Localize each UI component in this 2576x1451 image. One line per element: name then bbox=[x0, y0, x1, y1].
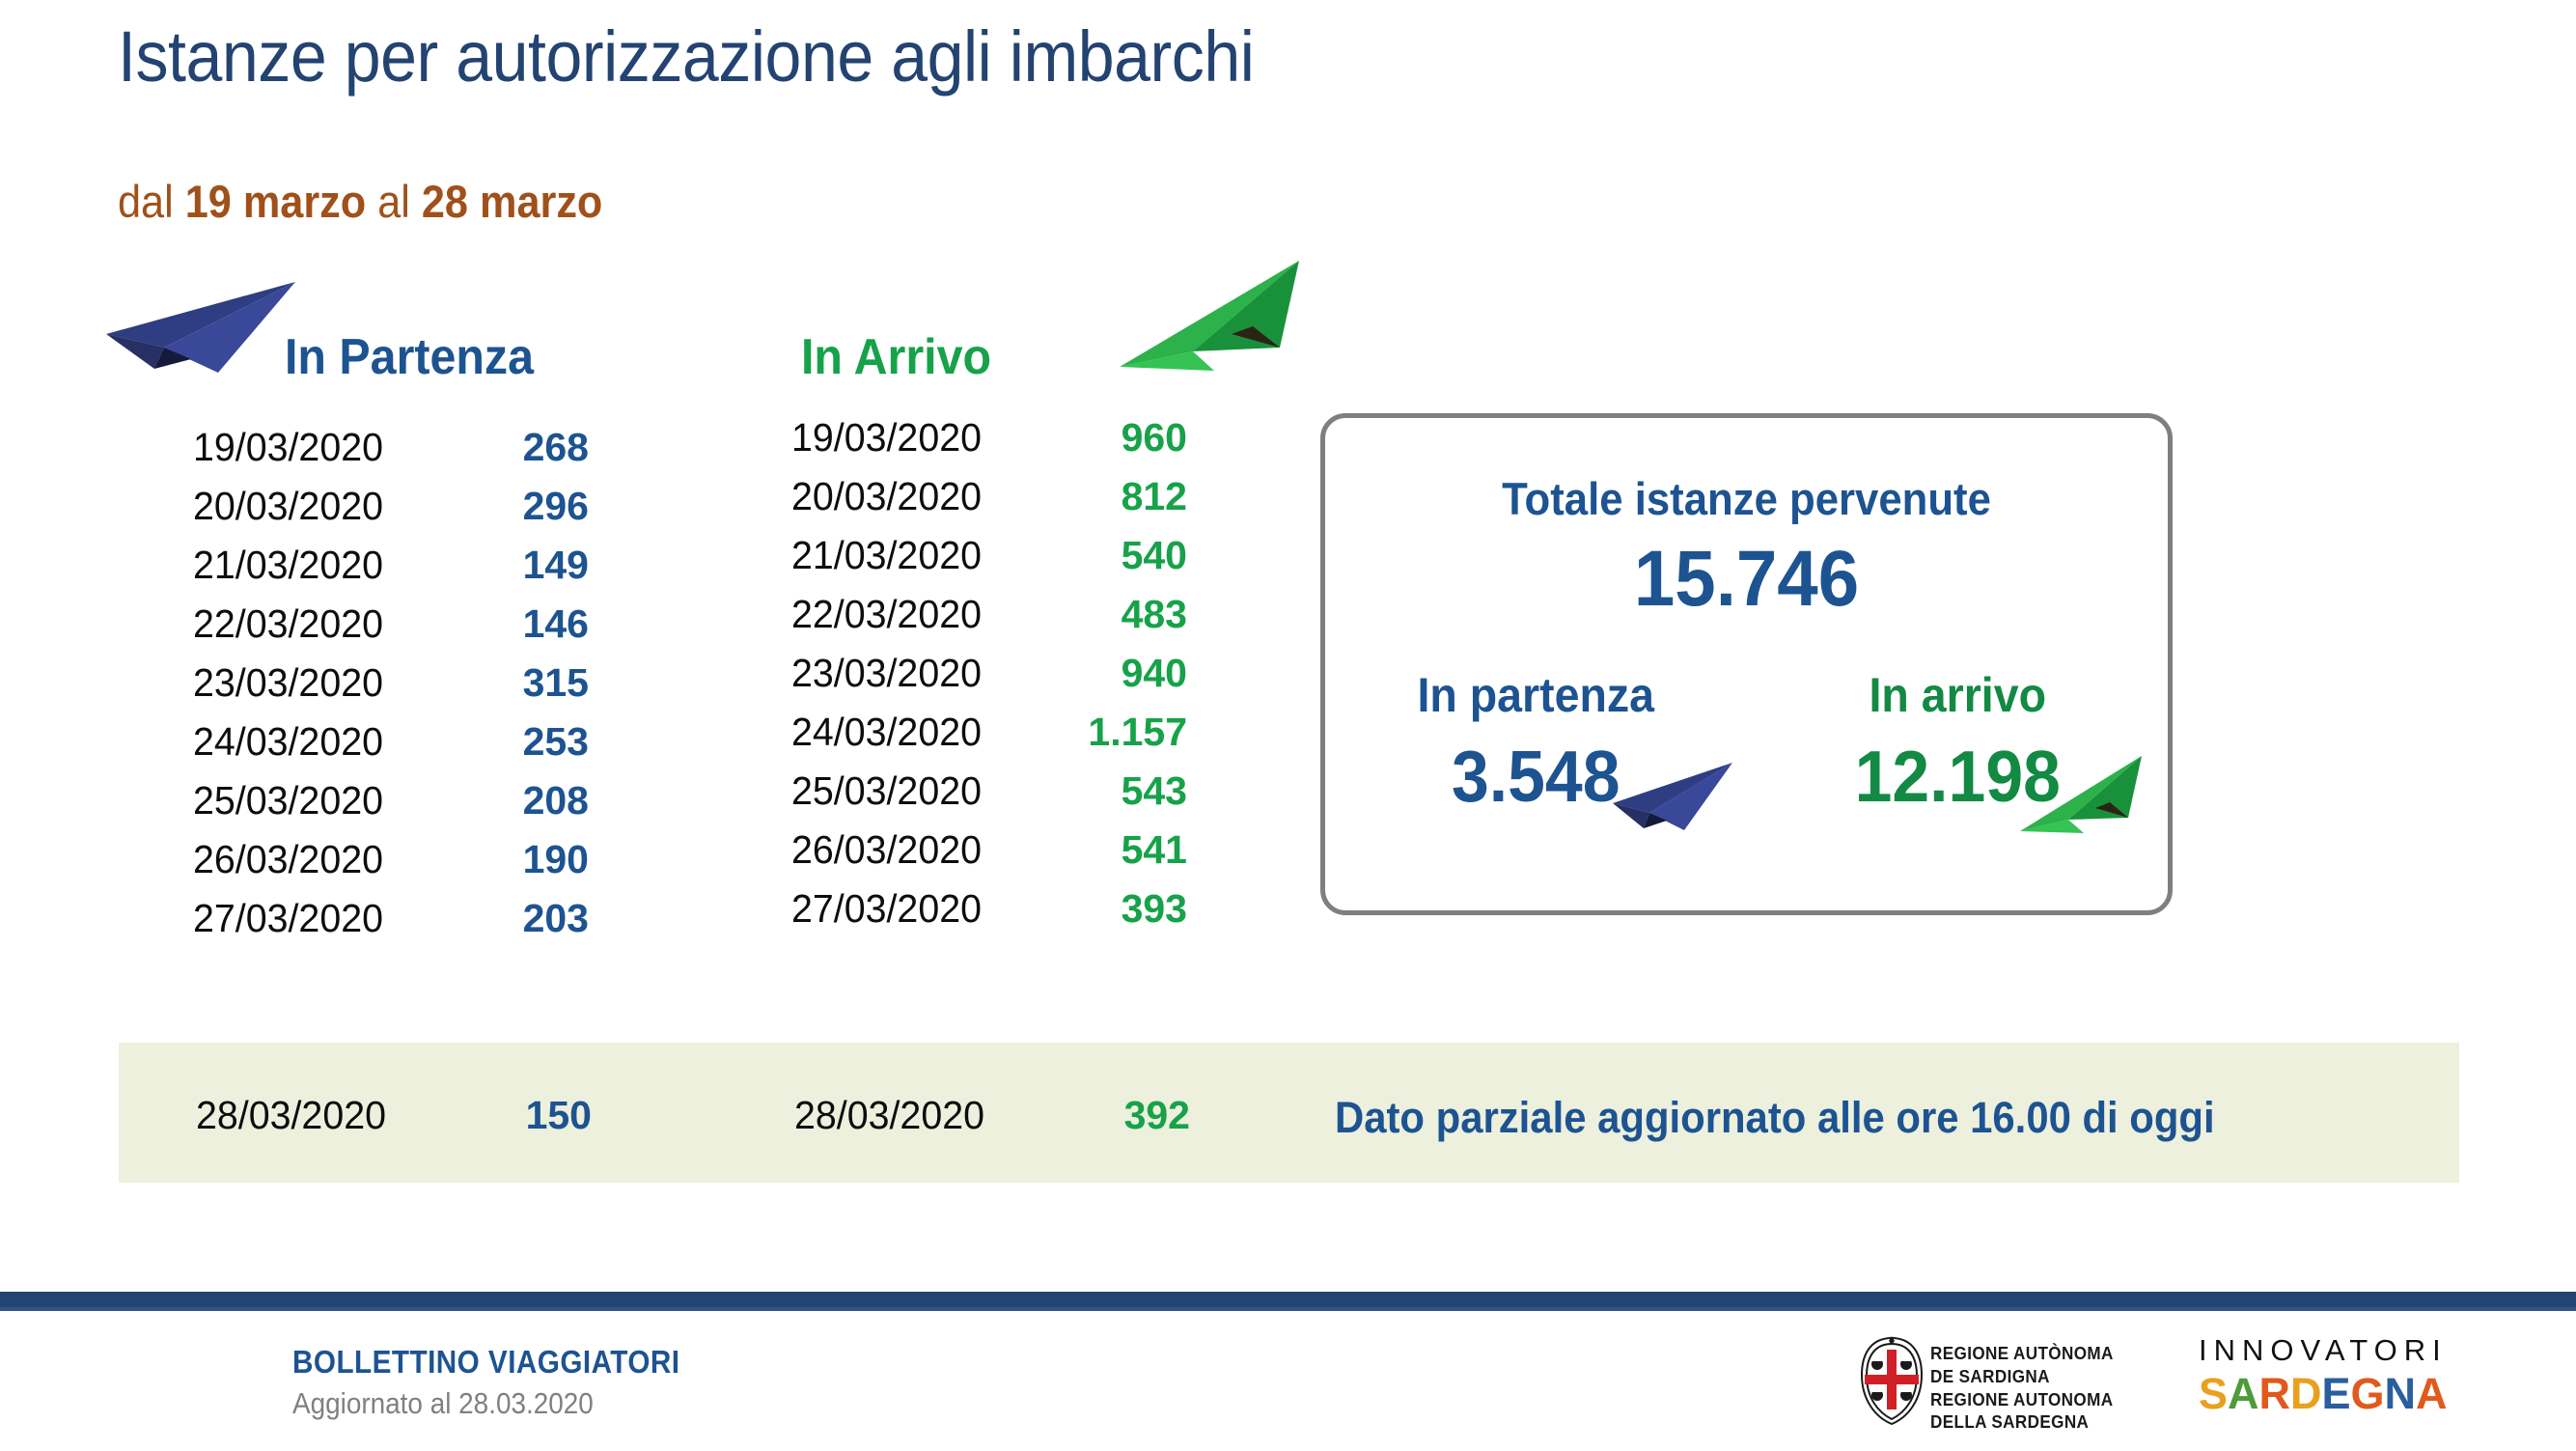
row-value: 190 bbox=[434, 837, 589, 882]
row-date: 21/03/2020 bbox=[791, 533, 1023, 578]
partial-data-note: Dato parziale aggiornato alle ore 16.00 … bbox=[1335, 1093, 2215, 1143]
total-label: Totale istanze pervenute bbox=[1355, 472, 2139, 525]
row-date: 27/03/2020 bbox=[791, 886, 1023, 932]
footer-subtitle: Aggiornato al 28.03.2020 bbox=[292, 1386, 594, 1421]
row-date: 19/03/2020 bbox=[791, 415, 1023, 460]
footer-title: BOLLETTINO VIAGGIATORI bbox=[292, 1344, 679, 1381]
sardinia-coat-of-arms-icon bbox=[1856, 1334, 1927, 1427]
paper-plane-green-small-icon bbox=[2018, 754, 2148, 836]
table-row: 25/03/2020208 bbox=[193, 778, 589, 837]
row-value: 812 bbox=[1033, 474, 1187, 519]
table-row: 23/03/2020315 bbox=[193, 660, 589, 719]
arrivals-table: 19/03/2020960 20/03/2020812 21/03/202054… bbox=[791, 415, 1187, 945]
row-value: 149 bbox=[434, 543, 589, 588]
sardegna-letter: R bbox=[2259, 1372, 2291, 1415]
partial-data-band: 28/03/2020 150 28/03/2020 392 Dato parzi… bbox=[119, 1043, 2459, 1183]
partial-arrivals-row: 28/03/2020 392 bbox=[794, 1093, 1190, 1138]
row-value: 541 bbox=[1033, 827, 1187, 873]
row-value: 540 bbox=[1033, 533, 1187, 578]
page-title: Istanze per autorizzazione agli imbarchi bbox=[118, 21, 1254, 93]
row-date: 26/03/2020 bbox=[791, 827, 1023, 873]
table-row: 27/03/2020393 bbox=[791, 886, 1187, 945]
paper-plane-green-icon bbox=[1118, 259, 1311, 375]
row-value: 208 bbox=[434, 778, 589, 823]
slide-root: Istanze per autorizzazione agli imbarchi… bbox=[0, 0, 2576, 1451]
paper-plane-navy-icon bbox=[104, 280, 302, 386]
sardegna-letter: N bbox=[2385, 1372, 2417, 1415]
row-value: 146 bbox=[434, 601, 589, 647]
region-line-1: REGIONE AUTÒNOMA bbox=[1930, 1343, 2114, 1366]
sardegna-letter: D bbox=[2290, 1372, 2322, 1415]
total-value: 15.746 bbox=[1355, 534, 2139, 625]
departures-table: 19/03/2020268 20/03/2020296 21/03/202014… bbox=[193, 425, 589, 955]
row-value: 543 bbox=[1033, 768, 1187, 814]
total-arrivals-label: In arrivo bbox=[1761, 667, 2153, 723]
region-name-text: REGIONE AUTÒNOMA DE SARDIGNA REGIONE AUT… bbox=[1930, 1343, 2114, 1435]
region-line-3: REGIONE AUTONOMA bbox=[1930, 1389, 2114, 1412]
sardegna-letter: S bbox=[2199, 1372, 2228, 1415]
total-summary-box: Totale istanze pervenute 15.746 In parte… bbox=[1320, 413, 2173, 915]
row-value: 940 bbox=[1033, 651, 1187, 696]
row-value: 960 bbox=[1033, 415, 1187, 460]
sardegna-letter: A bbox=[2228, 1372, 2259, 1415]
row-value: 393 bbox=[1033, 886, 1187, 932]
partial-departure-date: 28/03/2020 bbox=[196, 1093, 428, 1138]
row-date: 21/03/2020 bbox=[193, 543, 425, 588]
footer-divider-bar-secondary bbox=[0, 1307, 2576, 1311]
date-range-subtitle: dal 19 marzo al 28 marzo bbox=[118, 179, 602, 224]
row-date: 24/03/2020 bbox=[791, 710, 1023, 755]
table-row: 19/03/2020268 bbox=[193, 425, 589, 484]
subtitle-from: 19 marzo bbox=[185, 176, 366, 227]
row-value: 315 bbox=[434, 660, 589, 706]
innovatori-wordmark: INNOVATORI bbox=[2199, 1335, 2448, 1365]
row-value: 253 bbox=[434, 719, 589, 765]
table-row: 25/03/2020543 bbox=[791, 768, 1187, 827]
row-date: 22/03/2020 bbox=[193, 601, 425, 647]
departures-heading: In Partenza bbox=[285, 328, 534, 386]
table-row: 22/03/2020146 bbox=[193, 601, 589, 660]
partial-arrival-value: 392 bbox=[1036, 1093, 1190, 1138]
arrivals-heading: In Arrivo bbox=[801, 328, 991, 386]
table-row: 26/03/2020190 bbox=[193, 837, 589, 896]
sardegna-letter: G bbox=[2351, 1372, 2385, 1415]
row-date: 25/03/2020 bbox=[791, 768, 1023, 814]
innovatori-sardegna-logo: INNOVATORI SARDEGNA bbox=[2199, 1335, 2448, 1415]
row-date: 23/03/2020 bbox=[791, 651, 1023, 696]
sardegna-wordmark: SARDEGNA bbox=[2199, 1372, 2448, 1415]
table-row: 27/03/2020203 bbox=[193, 896, 589, 955]
region-line-2: DE SARDIGNA bbox=[1930, 1366, 2114, 1389]
table-row: 20/03/2020296 bbox=[193, 484, 589, 543]
sardegna-letter: E bbox=[2322, 1372, 2351, 1415]
row-date: 20/03/2020 bbox=[193, 484, 425, 529]
footer-divider-bar bbox=[0, 1292, 2576, 1307]
row-value: 296 bbox=[434, 484, 589, 529]
table-row: 21/03/2020149 bbox=[193, 543, 589, 601]
subtitle-mid: al bbox=[366, 176, 422, 227]
row-date: 19/03/2020 bbox=[193, 425, 425, 470]
partial-arrival-date: 28/03/2020 bbox=[794, 1093, 1026, 1138]
row-date: 26/03/2020 bbox=[193, 837, 425, 882]
row-value: 268 bbox=[434, 425, 589, 470]
row-date: 20/03/2020 bbox=[791, 474, 1023, 519]
subtitle-prefix: dal bbox=[118, 176, 185, 227]
row-date: 22/03/2020 bbox=[791, 592, 1023, 637]
table-row: 26/03/2020541 bbox=[791, 827, 1187, 886]
total-departures-label: In partenza bbox=[1340, 667, 1731, 723]
row-date: 23/03/2020 bbox=[193, 660, 425, 706]
row-value: 483 bbox=[1033, 592, 1187, 637]
sardegna-letter: A bbox=[2416, 1372, 2448, 1415]
table-row: 24/03/20201.157 bbox=[791, 710, 1187, 768]
table-row: 22/03/2020483 bbox=[791, 592, 1187, 651]
row-value: 203 bbox=[434, 896, 589, 941]
table-row: 24/03/2020253 bbox=[193, 719, 589, 778]
row-date: 25/03/2020 bbox=[193, 778, 425, 823]
table-row: 19/03/2020960 bbox=[791, 415, 1187, 474]
paper-plane-navy-small-icon bbox=[1611, 761, 1736, 838]
partial-departure-value: 150 bbox=[437, 1093, 592, 1138]
table-row: 23/03/2020940 bbox=[791, 651, 1187, 710]
subtitle-to: 28 marzo bbox=[422, 176, 602, 227]
partial-departures-row: 28/03/2020 150 bbox=[196, 1093, 592, 1138]
region-line-4: DELLA SARDEGNA bbox=[1930, 1411, 2114, 1435]
table-row: 20/03/2020812 bbox=[791, 474, 1187, 533]
row-date: 27/03/2020 bbox=[193, 896, 425, 941]
row-value: 1.157 bbox=[1033, 710, 1187, 755]
table-row: 21/03/2020540 bbox=[791, 533, 1187, 592]
row-date: 24/03/2020 bbox=[193, 719, 425, 765]
